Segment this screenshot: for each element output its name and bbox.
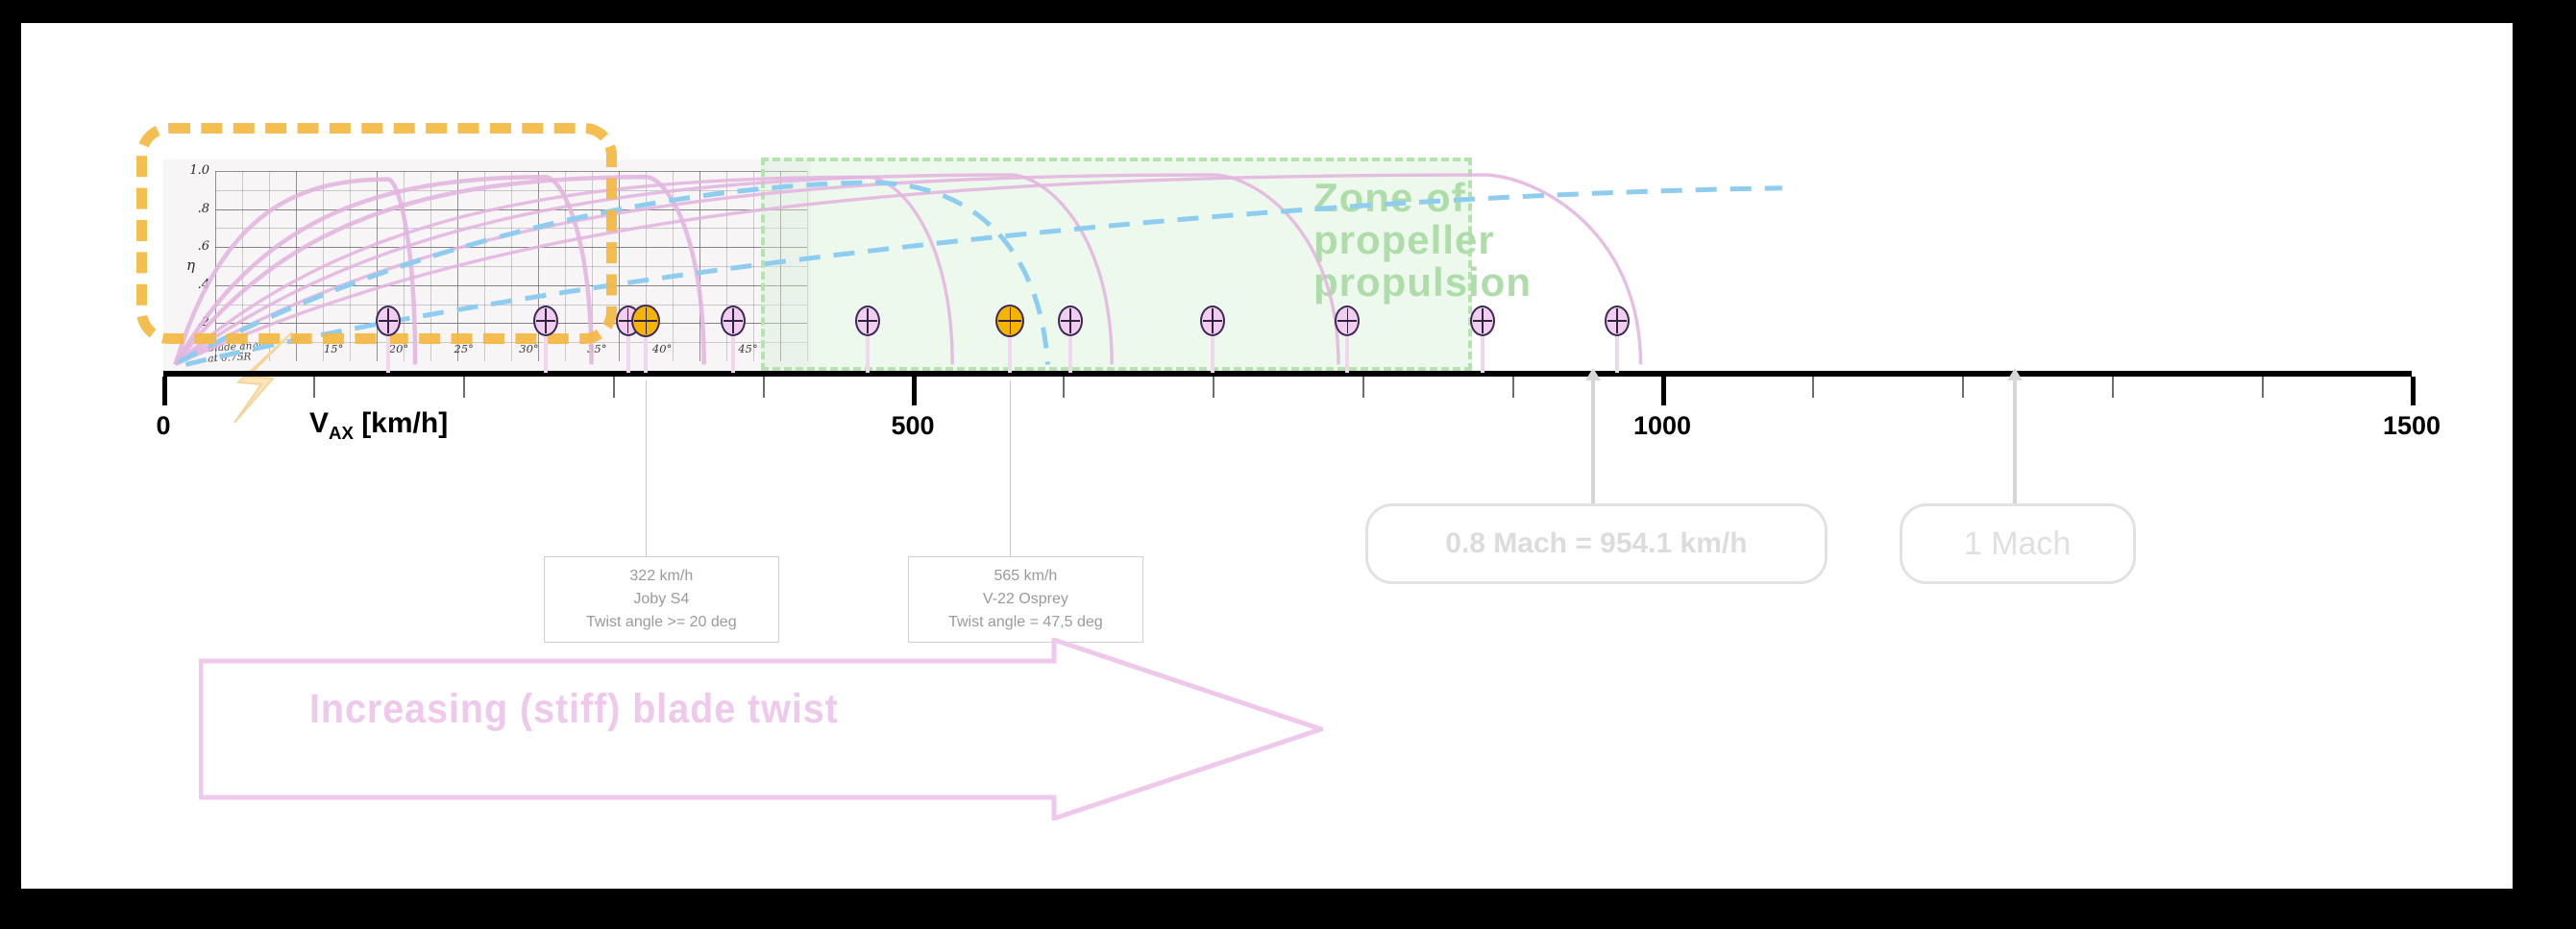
diagram-canvas: η 1.0.8.6.4.215°20°25°30°35°40°45° Blade…: [21, 23, 2513, 889]
axis-title: VAX [km/h]: [309, 407, 448, 444]
aircraft-callout-box: 565 km/hV-22 OspreyTwist angle = 47,5 de…: [908, 556, 1143, 643]
mach-pointer-arrow: [1591, 379, 1595, 503]
speed-axis: [163, 371, 2412, 377]
axis-tick-major: [912, 377, 917, 405]
axis-tick-minor: [1812, 377, 1814, 398]
callout-line: V-22 Osprey: [922, 588, 1129, 611]
callout-line: Twist angle >= 20 deg: [558, 611, 765, 634]
speed-marker[interactable]: [1200, 306, 1225, 336]
axis-tick-label: 1500: [2383, 411, 2441, 441]
blade-angle-label: 45°: [738, 342, 757, 355]
speed-marker[interactable]: [533, 306, 558, 336]
blade-twist-label: Increasing (stiff) blade twist: [309, 686, 839, 733]
axis-tick-minor: [1512, 377, 1514, 398]
axis-tick-major: [1661, 377, 1666, 405]
callout-line: 322 km/h: [558, 565, 765, 588]
axis-tick-minor: [1962, 377, 1964, 398]
blade-angle-label: 25°: [454, 342, 474, 355]
mach-pointer-arrow: [2013, 379, 2017, 503]
axis-tick-minor: [1063, 377, 1065, 398]
speed-marker[interactable]: [1058, 306, 1083, 336]
axis-tick-minor: [2112, 377, 2114, 398]
blade-angle-label: 20°: [389, 342, 408, 355]
callout-leader-line: [646, 380, 647, 556]
axis-tick-minor: [1362, 377, 1364, 398]
lightning-bolt-icon: [209, 330, 325, 436]
axis-tick-label: 0: [156, 411, 170, 441]
callout-line: Twist angle = 47,5 deg: [922, 611, 1129, 634]
axis-tick-minor: [1213, 377, 1214, 398]
gridline-v: [673, 171, 674, 361]
blade-angle-label: 35°: [587, 342, 606, 355]
axis-tick-major: [2411, 377, 2416, 405]
axis-tick-minor: [463, 377, 465, 398]
axis-tick-minor: [763, 377, 765, 398]
axis-tick-major: [162, 377, 167, 405]
speed-marker[interactable]: [721, 306, 746, 336]
propeller-zone-label: Zone of propeller propulsion: [1313, 177, 1554, 304]
axis-tick-minor: [613, 377, 615, 398]
speed-marker[interactable]: [855, 306, 880, 336]
speed-marker[interactable]: [376, 306, 401, 336]
blade-angle-label: 30°: [519, 342, 538, 355]
axis-tick-label: 500: [891, 411, 934, 441]
speed-marker[interactable]: [1470, 306, 1495, 336]
speed-marker[interactable]: [1605, 306, 1630, 336]
callout-line: 565 km/h: [922, 565, 1129, 588]
axis-tick-label: 1000: [1633, 411, 1691, 441]
aircraft-callout-box: 322 km/hJoby S4Twist angle >= 20 deg: [544, 556, 779, 643]
callout-leader-line: [1010, 380, 1011, 556]
blade-angle-label: 40°: [652, 342, 672, 355]
callout-line: Joby S4: [558, 588, 765, 611]
axis-tick-minor: [313, 377, 315, 398]
gridline-v: [753, 171, 754, 361]
mach-annotation-box: 0.8 Mach = 954.1 km/h: [1365, 503, 1828, 584]
axis-tick-minor: [2262, 377, 2264, 398]
blade-angle-label: 15°: [324, 342, 343, 355]
screenshot-frame: η 1.0.8.6.4.215°20°25°30°35°40°45° Blade…: [0, 0, 2576, 929]
mach-annotation-box: 1 Mach: [1900, 503, 2136, 584]
gridline-v: [699, 171, 700, 361]
